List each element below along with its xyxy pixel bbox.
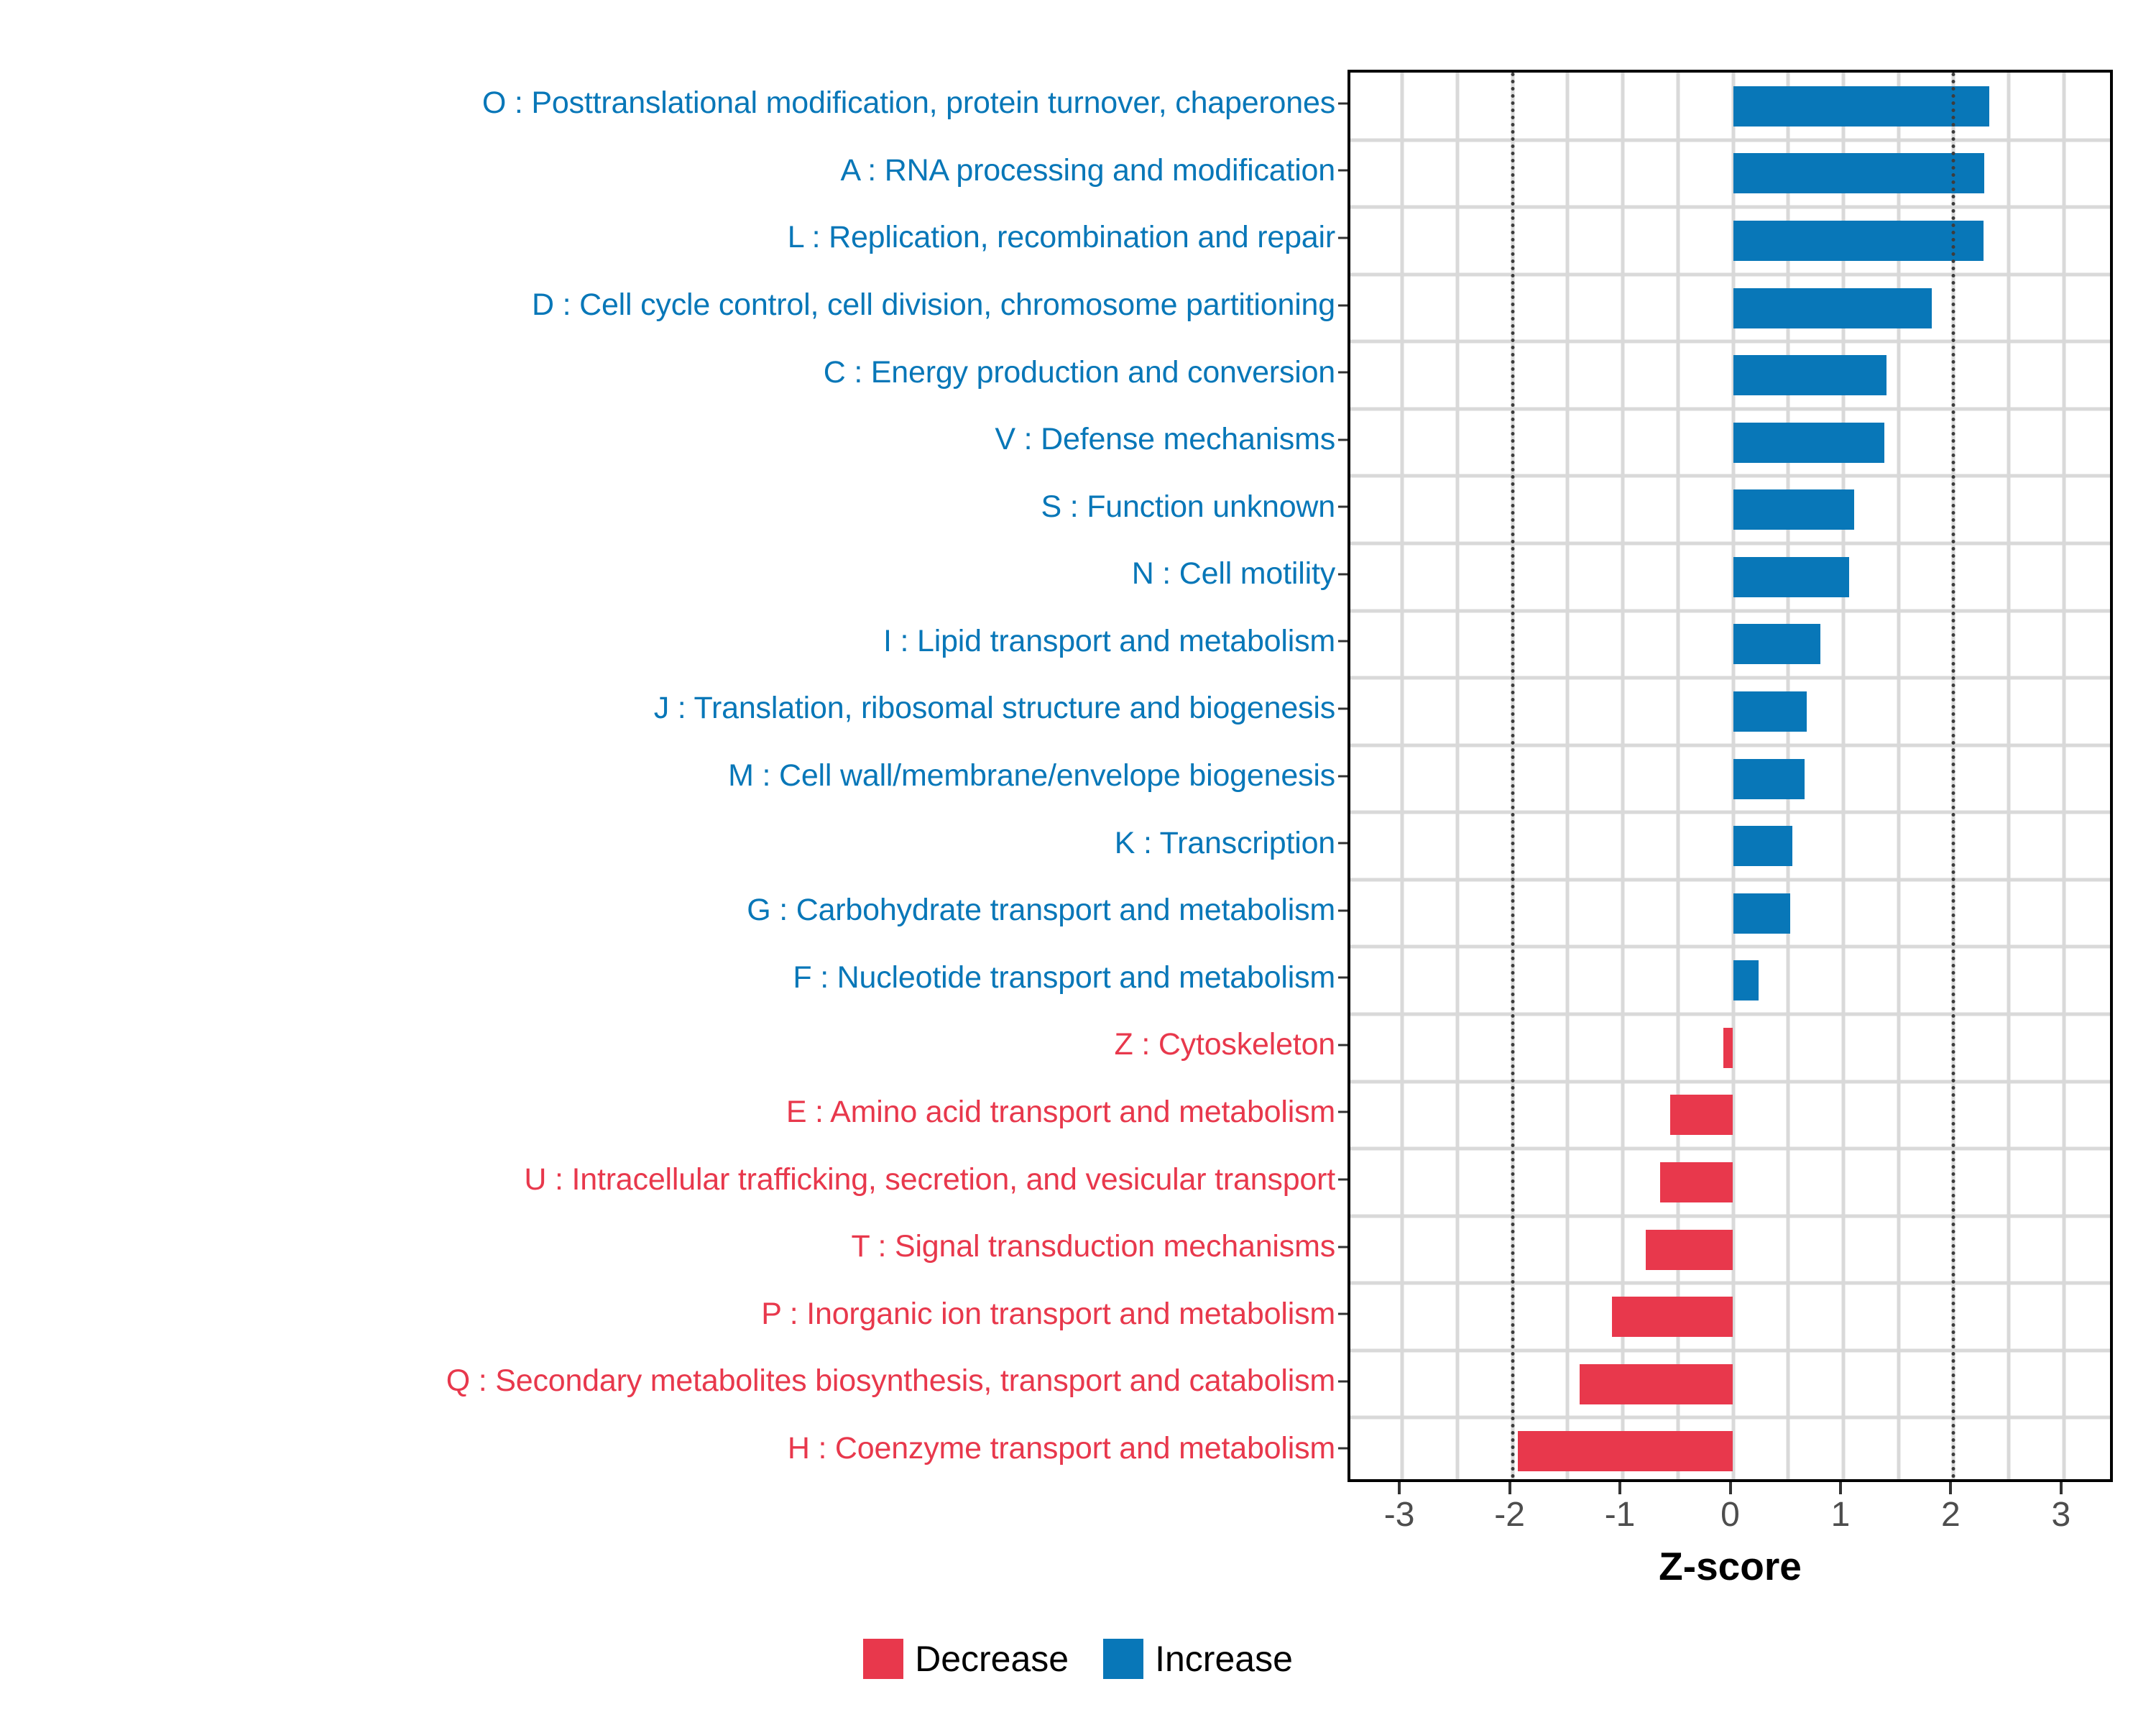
bar — [1733, 423, 1884, 463]
y-axis-label-row: K : Transcription — [0, 809, 1338, 877]
y-axis-tick-mark — [1338, 640, 1347, 643]
bar — [1733, 691, 1807, 732]
y-axis-tick-mark — [1338, 707, 1347, 709]
y-axis-label-row: T : Signal transduction mechanisms — [0, 1213, 1338, 1281]
horizontal-gridline — [1350, 1214, 2110, 1218]
y-axis-category-label: F : Nucleotide transport and metabolism — [793, 962, 1338, 993]
y-axis-tick-mark — [1338, 1448, 1347, 1450]
y-axis-label-row: C : Energy production and conversion — [0, 339, 1338, 406]
y-axis-label-row: U : Intracellular trafficking, secretion… — [0, 1146, 1338, 1213]
cog-zscore-bar-chart: O : Posttranslational modification, prot… — [0, 0, 2156, 1725]
legend-color-swatch — [863, 1639, 903, 1679]
vertical-gridline — [1401, 73, 1404, 1479]
x-axis-tick-label: -1 — [1605, 1498, 1636, 1532]
y-axis-label-row: Q : Secondary metabolites biosynthesis, … — [0, 1348, 1338, 1415]
y-axis-category-label: E : Amino acid transport and metabolism — [786, 1097, 1338, 1128]
x-axis-tick-label: 3 — [2052, 1498, 2071, 1532]
y-axis-tick-mark — [1338, 1044, 1347, 1046]
horizontal-gridline — [1350, 1348, 2110, 1352]
horizontal-gridline — [1350, 340, 2110, 344]
y-axis-label-row: J : Translation, ribosomal structure and… — [0, 675, 1338, 742]
horizontal-gridline — [1350, 945, 2110, 949]
y-axis-tick-mark — [1338, 438, 1347, 441]
y-axis-category-label: D : Cell cycle control, cell division, c… — [532, 290, 1338, 321]
horizontal-gridline — [1350, 407, 2110, 410]
y-axis-category-label: Z : Cytoskeleton — [1115, 1029, 1338, 1060]
y-axis-category-label: K : Transcription — [1115, 828, 1338, 859]
x-axis-tick-mark — [1839, 1482, 1842, 1494]
horizontal-gridline — [1350, 1147, 2110, 1151]
horizontal-gridline — [1350, 811, 2110, 814]
x-axis-tick-label: -3 — [1384, 1498, 1415, 1532]
horizontal-gridline — [1350, 1013, 2110, 1016]
vertical-gridline — [1455, 73, 1459, 1479]
vertical-gridline — [2007, 73, 2011, 1479]
y-axis-label-row: O : Posttranslational modification, prot… — [0, 70, 1338, 137]
bar — [1733, 355, 1886, 395]
y-axis-tick-mark — [1338, 1179, 1347, 1181]
y-axis-tick-mark — [1338, 1313, 1347, 1315]
y-axis-tick-mark — [1338, 842, 1347, 845]
legend-label: Decrease — [915, 1641, 1069, 1677]
bar — [1733, 489, 1855, 530]
y-axis-label-row: M : Cell wall/membrane/envelope biogenes… — [0, 742, 1338, 810]
legend-item[interactable]: Decrease — [863, 1639, 1069, 1679]
y-axis-category-label: U : Intracellular trafficking, secretion… — [524, 1164, 1338, 1195]
y-axis-category-label: G : Carbohydrate transport and metabolis… — [747, 895, 1338, 926]
vertical-gridline — [2062, 73, 2065, 1479]
y-axis-category-label: S : Function unknown — [1041, 492, 1338, 523]
y-axis-tick-mark — [1338, 977, 1347, 979]
bar — [1580, 1364, 1733, 1404]
y-axis-category-label: V : Defense mechanisms — [995, 424, 1338, 455]
horizontal-gridline — [1350, 1080, 2110, 1083]
y-axis-tick-mark — [1338, 372, 1347, 374]
y-axis-label-row: S : Function unknown — [0, 473, 1338, 540]
vertical-gridline — [1566, 73, 1570, 1479]
legend-label: Increase — [1155, 1641, 1293, 1677]
y-axis-category-label: N : Cell motility — [1132, 558, 1338, 589]
y-axis-label-row: N : Cell motility — [0, 540, 1338, 608]
vertical-gridline — [1621, 73, 1625, 1479]
x-axis-tick-mark — [1398, 1482, 1401, 1494]
y-axis-tick-mark — [1338, 775, 1347, 777]
y-axis-tick-mark — [1338, 1246, 1347, 1248]
y-axis-tick-mark — [1338, 506, 1347, 508]
y-axis-category-labels: O : Posttranslational modification, prot… — [0, 70, 1338, 1482]
y-axis-category-label: A : RNA processing and modification — [840, 155, 1338, 186]
bar — [1733, 826, 1793, 866]
x-axis-tick-mark — [1618, 1482, 1621, 1494]
y-axis-label-row: L : Replication, recombination and repai… — [0, 204, 1338, 272]
y-axis-category-label: C : Energy production and conversion — [824, 357, 1338, 388]
x-axis-tick-label: -2 — [1494, 1498, 1525, 1532]
bar — [1733, 759, 1805, 799]
bar — [1733, 86, 1989, 126]
y-axis-category-label: I : Lipid transport and metabolism — [883, 626, 1338, 657]
y-axis-label-row: V : Defense mechanisms — [0, 406, 1338, 474]
bar — [1670, 1095, 1733, 1135]
y-axis-tick-mark — [1338, 236, 1347, 239]
bar — [1733, 221, 1984, 261]
y-axis-category-label: P : Inorganic ion transport and metaboli… — [761, 1299, 1338, 1330]
reference-line — [1511, 73, 1514, 1479]
bar — [1723, 1028, 1733, 1068]
horizontal-gridline — [1350, 609, 2110, 612]
y-axis-category-label: M : Cell wall/membrane/envelope biogenes… — [728, 760, 1338, 791]
x-axis-tick-mark — [1949, 1482, 1952, 1494]
y-axis-tick-mark — [1338, 1111, 1347, 1113]
bar — [1733, 557, 1849, 597]
y-axis-category-label: T : Signal transduction mechanisms — [851, 1231, 1338, 1262]
horizontal-gridline — [1350, 474, 2110, 478]
plot-panel — [1347, 70, 2113, 1482]
y-axis-label-row: D : Cell cycle control, cell division, c… — [0, 272, 1338, 339]
horizontal-gridline — [1350, 878, 2110, 881]
bar — [1733, 893, 1791, 934]
x-axis-tick-label: 1 — [1831, 1498, 1851, 1532]
horizontal-gridline — [1350, 542, 2110, 546]
y-axis-tick-mark — [1338, 170, 1347, 172]
bar — [1518, 1431, 1733, 1471]
legend-color-swatch — [1103, 1639, 1143, 1679]
y-axis-category-label: Q : Secondary metabolites biosynthesis, … — [446, 1366, 1338, 1397]
reference-line — [1952, 73, 1955, 1479]
y-axis-tick-mark — [1338, 573, 1347, 575]
horizontal-gridline — [1350, 676, 2110, 680]
horizontal-gridline — [1350, 1282, 2110, 1285]
y-axis-category-label: J : Translation, ribosomal structure and… — [654, 693, 1338, 724]
y-axis-category-label: L : Replication, recombination and repai… — [788, 222, 1338, 253]
bar — [1733, 624, 1820, 664]
y-axis-label-row: P : Inorganic ion transport and metaboli… — [0, 1280, 1338, 1348]
y-axis-label-row: A : RNA processing and modification — [0, 137, 1338, 205]
legend: DecreaseIncrease — [0, 1639, 2156, 1679]
y-axis-category-label: O : Posttranslational modification, prot… — [482, 88, 1338, 119]
x-axis-tick-label: 0 — [1720, 1498, 1740, 1532]
legend-item[interactable]: Increase — [1103, 1639, 1293, 1679]
horizontal-gridline — [1350, 206, 2110, 209]
vertical-gridline — [1841, 73, 1845, 1479]
bar — [1733, 288, 1932, 328]
y-axis-label-row: Z : Cytoskeleton — [0, 1011, 1338, 1079]
horizontal-gridline — [1350, 272, 2110, 276]
y-axis-tick-mark — [1338, 1380, 1347, 1382]
bar — [1660, 1162, 1733, 1202]
horizontal-gridline — [1350, 743, 2110, 747]
y-axis-label-row: I : Lipid transport and metabolism — [0, 608, 1338, 676]
bar — [1612, 1297, 1733, 1337]
bar — [1733, 960, 1759, 1000]
y-axis-label-row: F : Nucleotide transport and metabolism — [0, 944, 1338, 1012]
y-axis-label-row: H : Coenzyme transport and metabolism — [0, 1415, 1338, 1483]
vertical-gridline — [1897, 73, 1900, 1479]
y-axis-tick-mark — [1338, 304, 1347, 306]
x-axis-tick-label: 2 — [1941, 1498, 1961, 1532]
y-axis-label-row: G : Carbohydrate transport and metabolis… — [0, 877, 1338, 944]
plot-area — [1350, 73, 2110, 1479]
horizontal-gridline — [1350, 138, 2110, 142]
x-axis-tick-mark — [1729, 1482, 1732, 1494]
y-axis-tick-mark — [1338, 102, 1347, 104]
bar — [1733, 153, 1985, 193]
x-axis-tick-mark — [1508, 1482, 1511, 1494]
y-axis-tick-mark — [1338, 909, 1347, 911]
x-axis-title: Z-score — [1347, 1547, 2113, 1586]
bar — [1646, 1230, 1733, 1270]
x-axis-tick-mark — [2060, 1482, 2063, 1494]
y-axis-label-row: E : Amino acid transport and metabolism — [0, 1079, 1338, 1146]
horizontal-gridline — [1350, 1416, 2110, 1420]
y-axis-category-label: H : Coenzyme transport and metabolism — [788, 1433, 1338, 1464]
